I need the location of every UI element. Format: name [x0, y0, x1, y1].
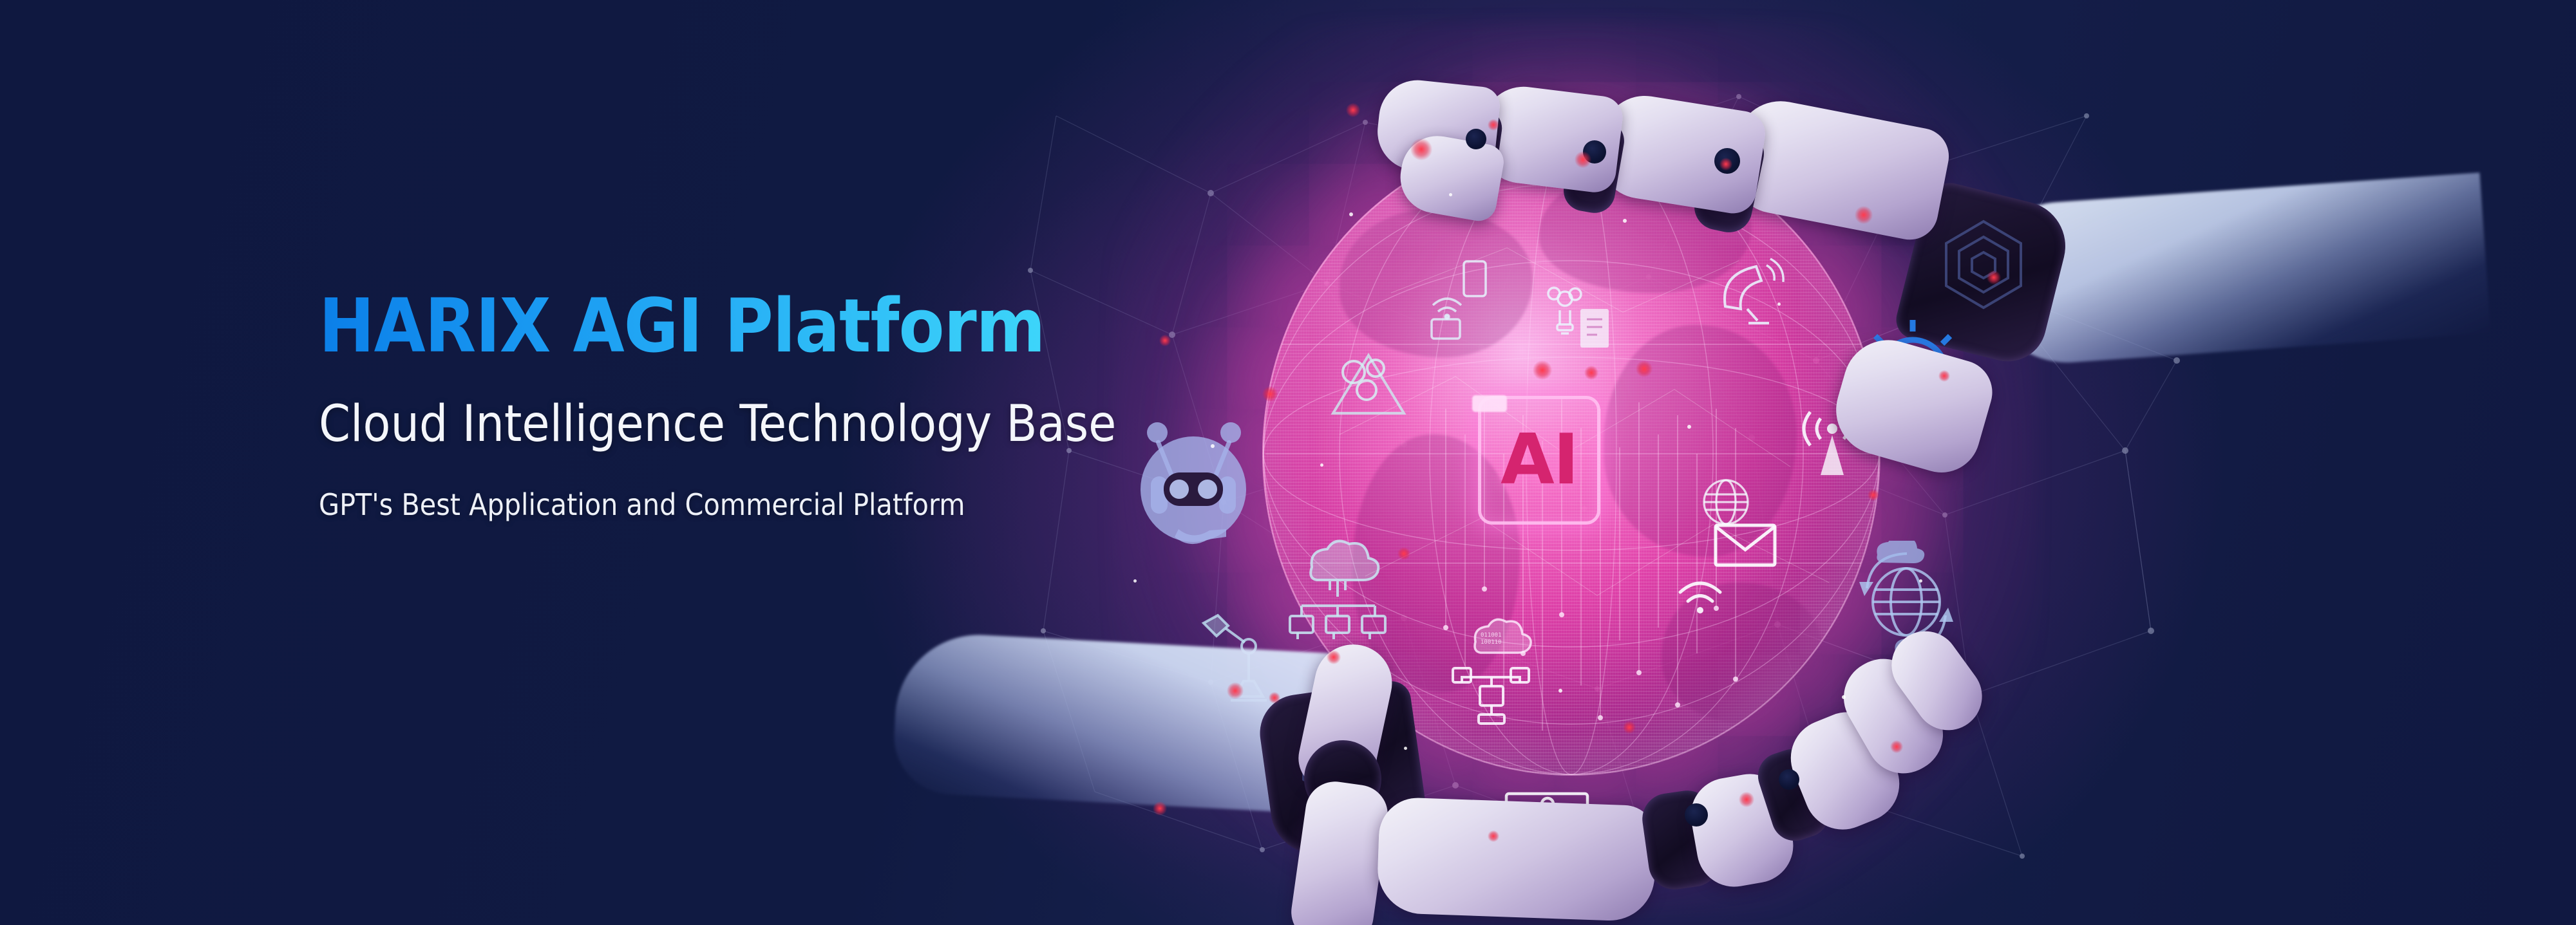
knuckle-b2: [1779, 769, 1799, 790]
wire-globe-icon: [1694, 470, 1758, 534]
gears-triangle-icon: [1320, 335, 1417, 431]
knuckle-t2: [1583, 140, 1606, 164]
knuckle-t1: [1714, 148, 1740, 174]
knuckle-b1: [1685, 803, 1708, 827]
page-subtitle: Cloud Intelligence Technology Base: [319, 397, 1156, 453]
network-node-icon: [1449, 663, 1533, 734]
page-title: HARIX AGI Platform: [319, 288, 1156, 366]
page-tagline: GPT's Best Application and Commercial Pl…: [319, 487, 1156, 523]
chip-notch: [1472, 395, 1507, 412]
satellite-dish-icon: [1710, 251, 1794, 335]
ai-hologram-chip: AI: [1478, 396, 1600, 525]
cloud-server-icon: 011001100110: [1459, 608, 1536, 666]
document-icon: [1571, 303, 1618, 358]
hero-banner: AI: [0, 0, 2576, 925]
circuit-data-rain: [1420, 396, 1781, 756]
robot-palm-bottom: [1376, 797, 1657, 922]
knuckle-t3: [1466, 129, 1486, 149]
ai-label: AI: [1501, 425, 1578, 495]
bulb-gear-icon: [1533, 277, 1597, 348]
cloud-network-icon: [1278, 531, 1397, 650]
svg-text:011001: 011001: [1481, 632, 1502, 639]
envelope-icon: [1707, 515, 1784, 576]
svg-text:100110: 100110: [1481, 639, 1502, 646]
hero-copy: HARIX AGI Platform Cloud Intelligence Te…: [319, 288, 1156, 523]
tablet-icon: [1459, 257, 1491, 300]
wifi-signal-icon: [1671, 573, 1729, 621]
device-wifi-icon: [1414, 277, 1484, 348]
